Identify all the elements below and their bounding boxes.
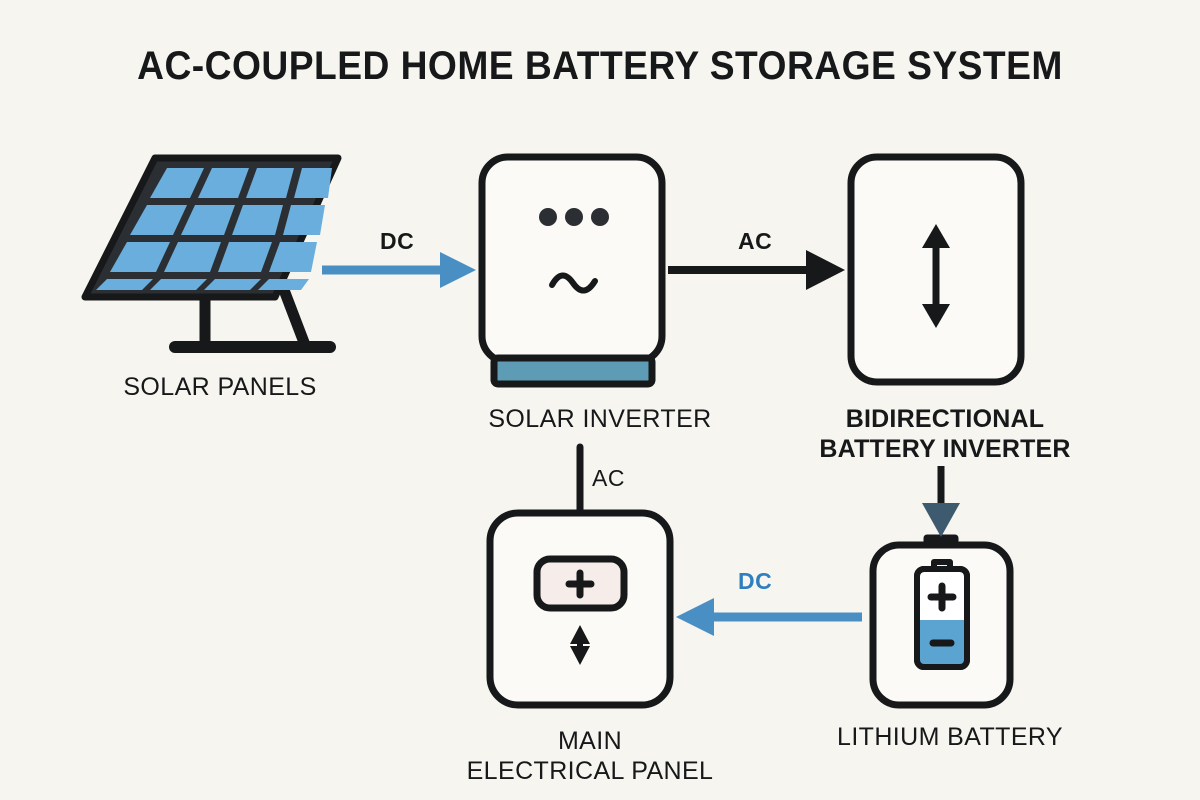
flow-label-ac-inverter-to-bidir: AC — [738, 228, 772, 255]
node-label-solar-panels: SOLAR PANELS — [40, 372, 400, 402]
solar-panel-array-icon — [85, 158, 338, 347]
bidirectional-arrow-icon — [851, 157, 1021, 382]
diagram-canvas: AC-COUPLED HOME BATTERY STORAGE SYSTEM .… — [0, 0, 1200, 800]
flow-label-ac-inverter-to-main-panel: AC — [592, 465, 625, 492]
flow-arrow-dc-panels-to-inverter — [322, 252, 476, 288]
flow-label-dc-panels-to-inverter: DC — [380, 228, 414, 255]
battery-cell-icon — [873, 538, 1010, 705]
flow-arrow-bidir-to-battery — [922, 466, 960, 537]
inverter-box-icon — [482, 157, 662, 384]
node-label-bidirectional-battery-inverter: BIDIRECTIONAL BATTERY INVERTER — [790, 404, 1100, 464]
flow-arrow-dc-battery-to-main-panel — [676, 598, 862, 636]
node-label-lithium-battery: LITHIUM BATTERY — [795, 722, 1105, 752]
node-label-solar-inverter: SOLAR INVERTER — [420, 404, 780, 434]
breaker-panel-icon — [490, 513, 670, 705]
flow-arrow-ac-inverter-to-bidir — [668, 250, 845, 290]
flow-label-dc-battery-to-main-panel: DC — [738, 568, 772, 595]
node-label-main-electrical-panel: MAIN ELECTRICAL PANEL — [430, 726, 750, 786]
